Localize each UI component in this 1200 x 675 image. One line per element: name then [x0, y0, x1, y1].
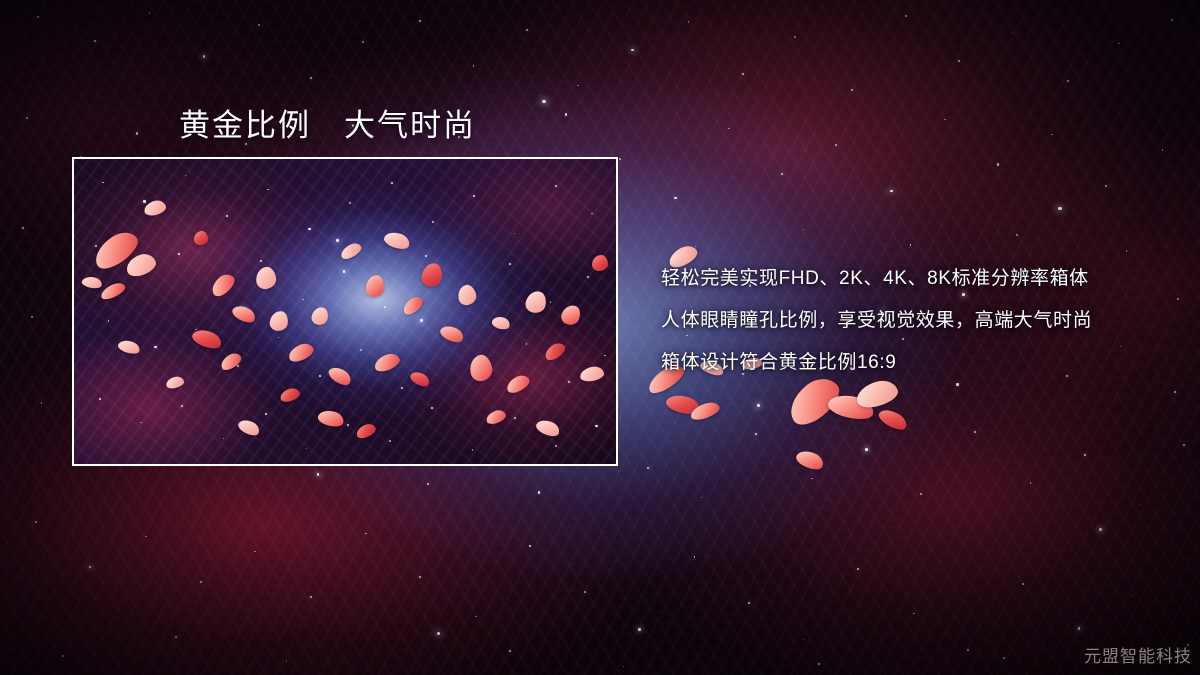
star-point — [542, 100, 545, 103]
star-point — [803, 229, 805, 231]
slide-canvas: 黄金比例 大气时尚 轻松完美实现FHD、2K、4K、8K标准分辨率箱体 人体眼睛… — [0, 0, 1200, 675]
star-point — [203, 55, 206, 58]
star-point — [419, 20, 421, 22]
star-point — [1177, 298, 1179, 300]
star-point — [1183, 444, 1185, 446]
star-point — [1022, 583, 1024, 585]
star-point — [1078, 627, 1081, 630]
star-point — [1084, 454, 1086, 456]
star-point — [974, 431, 976, 433]
star-point — [818, 663, 820, 665]
star-point — [920, 493, 922, 495]
star-point — [851, 89, 853, 91]
star-point — [475, 616, 476, 617]
photo-image — [74, 159, 616, 464]
star-point — [437, 632, 440, 635]
star-point — [362, 41, 363, 42]
star-point — [1174, 391, 1176, 393]
flower-petal — [794, 447, 826, 473]
star-point — [1139, 504, 1140, 505]
star-point — [565, 113, 567, 115]
star-point — [200, 581, 202, 583]
star-point — [41, 402, 43, 404]
star-point — [748, 602, 750, 604]
star-point — [910, 244, 912, 246]
photo-frame — [72, 157, 618, 466]
body-line-1: 轻松完美实现FHD、2K、4K、8K标准分辨率箱体 — [661, 258, 1161, 300]
star-point — [577, 85, 578, 86]
star-point — [755, 433, 757, 435]
star-point — [419, 576, 421, 578]
star-point — [31, 316, 33, 318]
star-point — [1099, 528, 1102, 531]
star-point — [1105, 185, 1107, 187]
star-point — [997, 163, 999, 165]
star-point — [1067, 80, 1069, 82]
star-point — [427, 483, 429, 485]
star-point — [26, 117, 28, 119]
star-point — [254, 551, 256, 553]
slide-title: 黄金比例 大气时尚 — [179, 100, 476, 145]
star-point — [638, 628, 641, 631]
star-point — [1171, 19, 1173, 21]
star-point — [175, 636, 177, 638]
body-copy: 轻松完美实现FHD、2K、4K、8K标准分辨率箱体 人体眼睛瞳孔比例，享受视觉效… — [661, 258, 1161, 384]
flower-petal — [664, 392, 701, 418]
star-point — [526, 29, 528, 31]
star-point — [835, 144, 837, 146]
star-point — [509, 650, 511, 652]
star-point — [1058, 207, 1061, 210]
star-point — [35, 521, 37, 523]
star-point — [967, 649, 969, 651]
watermark: 元盟智能科技 — [1084, 642, 1192, 667]
star-point — [958, 60, 960, 62]
flower-petal — [689, 400, 722, 423]
star-point — [913, 613, 915, 615]
star-point — [365, 533, 367, 535]
star-point — [781, 173, 783, 175]
star-point — [94, 40, 96, 42]
star-point — [695, 246, 696, 247]
star-point — [1132, 595, 1133, 596]
star-point — [1012, 32, 1013, 33]
star-point — [701, 497, 703, 499]
star-point — [674, 197, 676, 199]
star-point — [473, 65, 475, 67]
star-point — [1162, 149, 1164, 151]
star-point — [310, 596, 312, 598]
star-point — [149, 12, 150, 13]
star-point — [62, 655, 64, 657]
star-point — [811, 478, 812, 479]
star-point — [890, 190, 893, 193]
star-point — [688, 21, 690, 23]
star-point — [647, 467, 649, 469]
body-line-2: 人体眼睛瞳孔比例，享受视觉效果，高端大气时尚 — [661, 300, 1161, 342]
star-point — [584, 591, 586, 593]
star-point — [794, 36, 795, 37]
star-point — [1003, 657, 1005, 659]
star-point — [944, 119, 945, 120]
flower-petal — [876, 406, 909, 434]
star-point — [22, 227, 24, 229]
star-point — [1126, 250, 1128, 252]
star-point — [631, 49, 634, 52]
star-point — [865, 448, 868, 451]
star-point — [1118, 43, 1120, 45]
star-point — [89, 566, 92, 569]
star-point — [286, 660, 287, 661]
star-point — [757, 404, 760, 407]
star-point — [310, 77, 312, 79]
star-point — [145, 536, 146, 537]
star-point — [1016, 234, 1017, 235]
star-point — [538, 491, 540, 493]
star-point — [37, 16, 39, 18]
star-point — [136, 132, 138, 134]
star-point — [1051, 134, 1053, 136]
star-point — [317, 473, 320, 476]
star-point — [623, 666, 625, 668]
star-point — [694, 556, 696, 558]
star-point — [1030, 482, 1032, 484]
star-point — [857, 568, 859, 570]
star-point — [258, 24, 260, 26]
star-point — [905, 15, 907, 17]
star-point — [742, 73, 744, 75]
flower-petal — [826, 391, 876, 423]
star-point — [619, 158, 621, 160]
star-point — [728, 128, 729, 129]
body-line-3: 箱体设计符合黄金比例16:9 — [661, 342, 1161, 384]
photo-filament-layer — [74, 159, 616, 464]
star-point — [803, 639, 804, 640]
star-point — [529, 545, 531, 547]
